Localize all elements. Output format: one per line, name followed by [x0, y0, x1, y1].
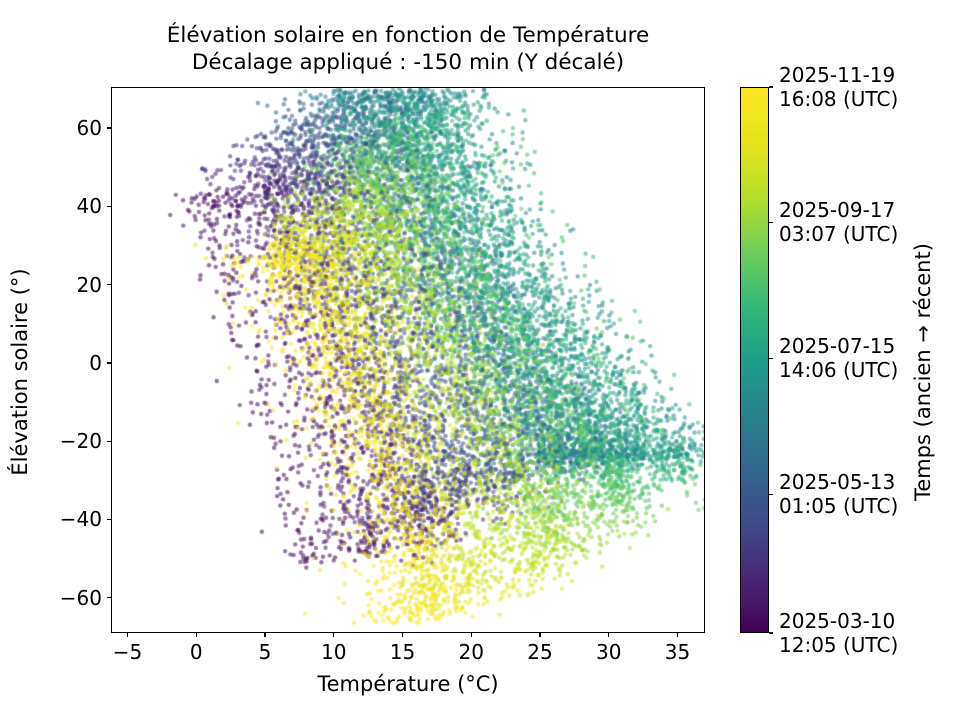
figure-canvas: Élévation solaire en fonction de Tempéra… [0, 0, 960, 720]
y-tick-label: −60 [30, 588, 102, 608]
x-tick-mark [608, 633, 609, 637]
colorbar-tick-date: 2025-07-15 [779, 334, 898, 358]
colorbar-tick-mark [769, 632, 773, 633]
x-tick-mark [333, 633, 334, 637]
x-tick-mark [471, 633, 472, 637]
colorbar-tick-time: 14:06 (UTC) [779, 358, 898, 382]
y-tick-label: −40 [30, 509, 102, 529]
x-tick-mark [677, 633, 678, 637]
y-tick-label: 60 [30, 118, 102, 138]
colorbar-tick-date: 2025-05-13 [779, 470, 898, 494]
x-tick-label: 20 [459, 642, 484, 662]
colorbar-gradient [740, 87, 769, 633]
y-tick-mark [107, 597, 111, 598]
colorbar-tick-mark [769, 494, 773, 495]
x-tick-mark [196, 633, 197, 637]
colorbar[interactable] [740, 87, 769, 633]
colorbar-tick-date: 2025-11-19 [779, 63, 898, 87]
y-tick-label: 20 [30, 275, 102, 295]
x-tick-label: 35 [665, 642, 690, 662]
x-axis-label: Température (°C) [111, 672, 705, 696]
x-tick-label: −5 [113, 642, 142, 662]
x-tick-label: 30 [596, 642, 621, 662]
y-tick-label: −20 [30, 431, 102, 451]
x-tick-label: 10 [321, 642, 346, 662]
y-tick-mark [107, 206, 111, 207]
colorbar-tick-time: 01:05 (UTC) [779, 494, 898, 518]
plot-axes[interactable] [111, 87, 705, 633]
colorbar-tick-date: 2025-03-10 [779, 609, 898, 633]
x-tick-label: 0 [190, 642, 203, 662]
colorbar-tick-label: 2025-05-1301:05 (UTC) [779, 470, 898, 518]
y-tick-mark [107, 127, 111, 128]
y-axis-label: Élévation solaire (°) [8, 99, 32, 645]
colorbar-tick-mark [769, 86, 773, 87]
x-tick-mark [539, 633, 540, 637]
colorbar-tick-mark [769, 358, 773, 359]
x-tick-mark [264, 633, 265, 637]
chart-title-line2: Décalage appliqué : -150 min (Y décalé) [110, 49, 706, 76]
x-tick-label: 25 [527, 642, 552, 662]
colorbar-label: Temps (ancien → récent) [911, 99, 935, 645]
y-tick-mark [107, 362, 111, 363]
colorbar-tick-time: 03:07 (UTC) [779, 222, 898, 246]
scatter-plot-canvas[interactable] [112, 88, 705, 633]
x-tick-label: 15 [390, 642, 415, 662]
y-tick-label: 40 [30, 196, 102, 216]
chart-title-line1: Élévation solaire en fonction de Tempéra… [110, 22, 706, 49]
y-tick-mark [107, 441, 111, 442]
y-tick-label: 0 [30, 353, 102, 373]
colorbar-tick-label: 2025-11-1916:08 (UTC) [779, 63, 898, 111]
y-tick-mark [107, 519, 111, 520]
colorbar-tick-label: 2025-03-1012:05 (UTC) [779, 609, 898, 657]
colorbar-tick-label: 2025-07-1514:06 (UTC) [779, 334, 898, 382]
colorbar-tick-mark [769, 222, 773, 223]
colorbar-tick-time: 16:08 (UTC) [779, 87, 898, 111]
x-tick-label: 5 [259, 642, 272, 662]
colorbar-tick-date: 2025-09-17 [779, 198, 898, 222]
colorbar-tick-time: 12:05 (UTC) [779, 633, 898, 657]
chart-title: Élévation solaire en fonction de Tempéra… [110, 22, 706, 76]
x-tick-mark [127, 633, 128, 637]
y-tick-mark [107, 284, 111, 285]
colorbar-tick-label: 2025-09-1703:07 (UTC) [779, 198, 898, 246]
x-tick-mark [402, 633, 403, 637]
